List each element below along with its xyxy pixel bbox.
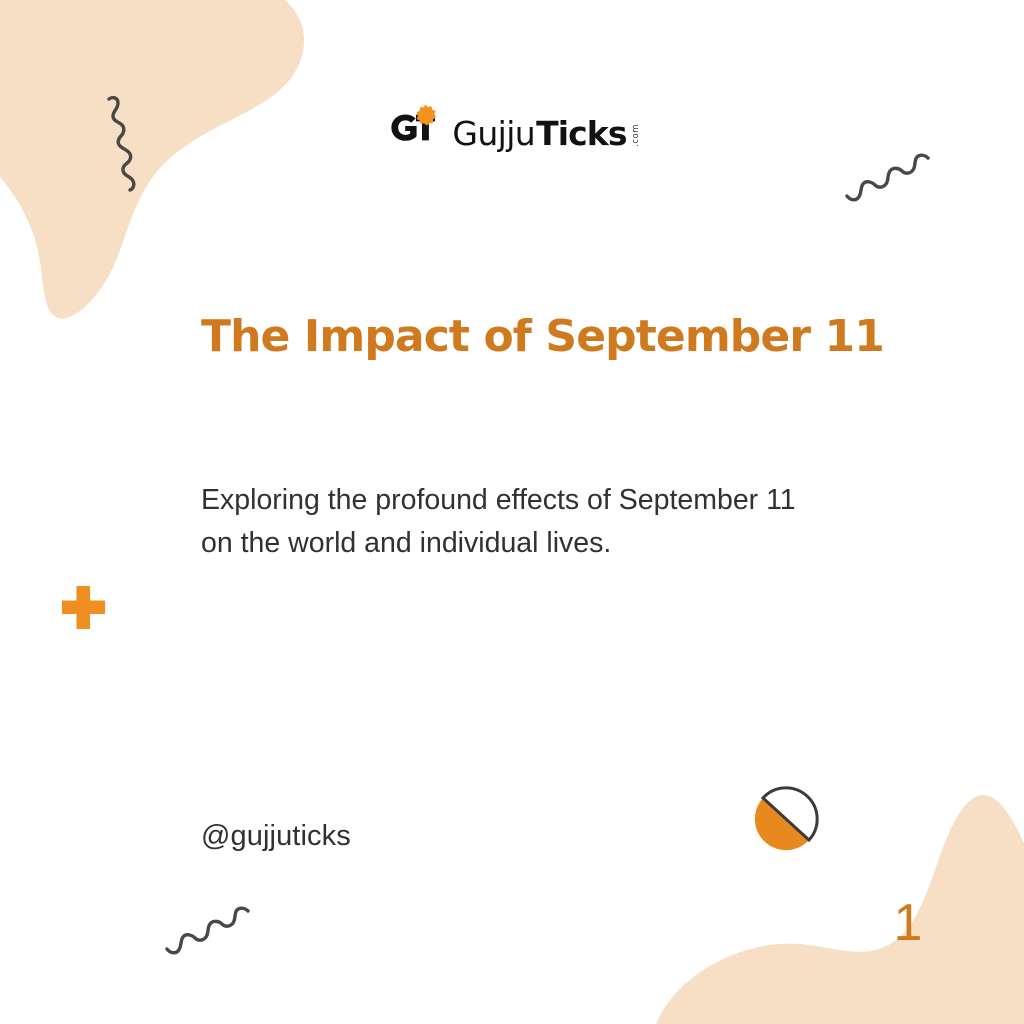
- squiggle-top-right-shape: [847, 155, 928, 200]
- social-handle: @gujjuticks: [201, 820, 351, 853]
- wordmark-light-part: Gujju: [452, 117, 535, 150]
- blob-top-left-shape: [0, 0, 304, 319]
- gt-monogram-flower-logo-icon: [383, 104, 441, 150]
- brand-wordmark: Gujju Ticks .com: [452, 117, 640, 150]
- body-text: Exploring the profound effects of Septem…: [201, 479, 801, 565]
- half-circle-mark-shape: [755, 788, 817, 850]
- wordmark-tld: .com: [631, 124, 641, 147]
- squiggle-bottom-left-shape: [167, 908, 248, 953]
- brand-logo: Gujju Ticks .com: [0, 104, 1024, 150]
- slide-canvas: Gujju Ticks .com The Impact of September…: [0, 0, 1024, 1024]
- blob-bottom-right-shape: [649, 795, 1024, 1024]
- plus-mark-left-shape: [62, 586, 105, 629]
- page-number: 1: [885, 897, 931, 949]
- page-title: The Impact of September 11: [201, 312, 901, 361]
- wordmark-bold-part: Ticks: [536, 117, 626, 150]
